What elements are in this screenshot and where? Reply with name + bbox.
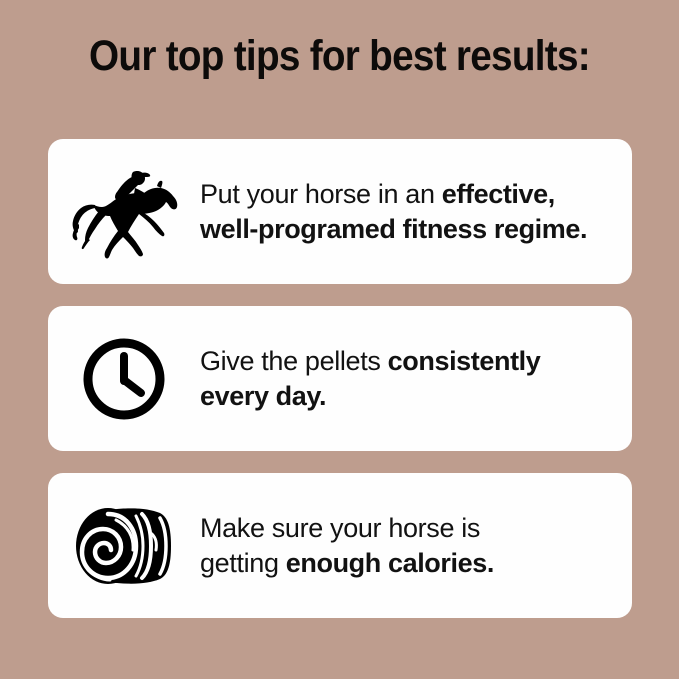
- tip-text-1-l1-s2: effective,: [442, 179, 555, 209]
- tip-text-2-l1-s2: consistently: [388, 346, 541, 376]
- clock-icon: [48, 306, 200, 451]
- horse-rider-icon: [48, 139, 200, 284]
- tip-text-2-line-1: Give the pellets consistently: [200, 344, 618, 379]
- tip-text-1: Put your horse in an effective, well-pro…: [200, 177, 632, 247]
- tips-poster: Our top tips for best results:: [0, 0, 679, 679]
- tip-text-3-l2-s2: enough calories.: [286, 548, 494, 578]
- tip-card-1[interactable]: Put your horse in an effective, well-pro…: [48, 139, 632, 284]
- tip-text-2-l2-s1: every day.: [200, 381, 326, 411]
- tip-text-3-line-2: getting enough calories.: [200, 546, 618, 581]
- tip-text-3: Make sure your horse is getting enough c…: [200, 511, 632, 581]
- tip-text-3-l2-s1: getting: [200, 548, 286, 578]
- tip-text-3-line-1: Make sure your horse is: [200, 511, 618, 546]
- hay-bale-icon: [48, 473, 200, 618]
- tip-card-3[interactable]: Make sure your horse is getting enough c…: [48, 473, 632, 618]
- tip-text-1-l1-s1: Put your horse in an: [200, 179, 442, 209]
- tip-text-2: Give the pellets consistently every day.: [200, 344, 632, 414]
- tip-text-2-line-2: every day.: [200, 379, 618, 414]
- tip-text-1-line-1: Put your horse in an effective,: [200, 177, 618, 212]
- tip-text-2-l1-s1: Give the pellets: [200, 346, 388, 376]
- tip-text-1-line-2: well-programed fitness regime.: [200, 212, 618, 247]
- page-title: Our top tips for best results:: [34, 30, 645, 82]
- tip-card-2[interactable]: Give the pellets consistently every day.: [48, 306, 632, 451]
- tip-text-1-l2-s1: well-programed fitness regime.: [200, 214, 587, 244]
- tip-text-3-l1-s1: Make sure your horse is: [200, 513, 480, 543]
- tips-card-list: Put your horse in an effective, well-pro…: [48, 139, 632, 618]
